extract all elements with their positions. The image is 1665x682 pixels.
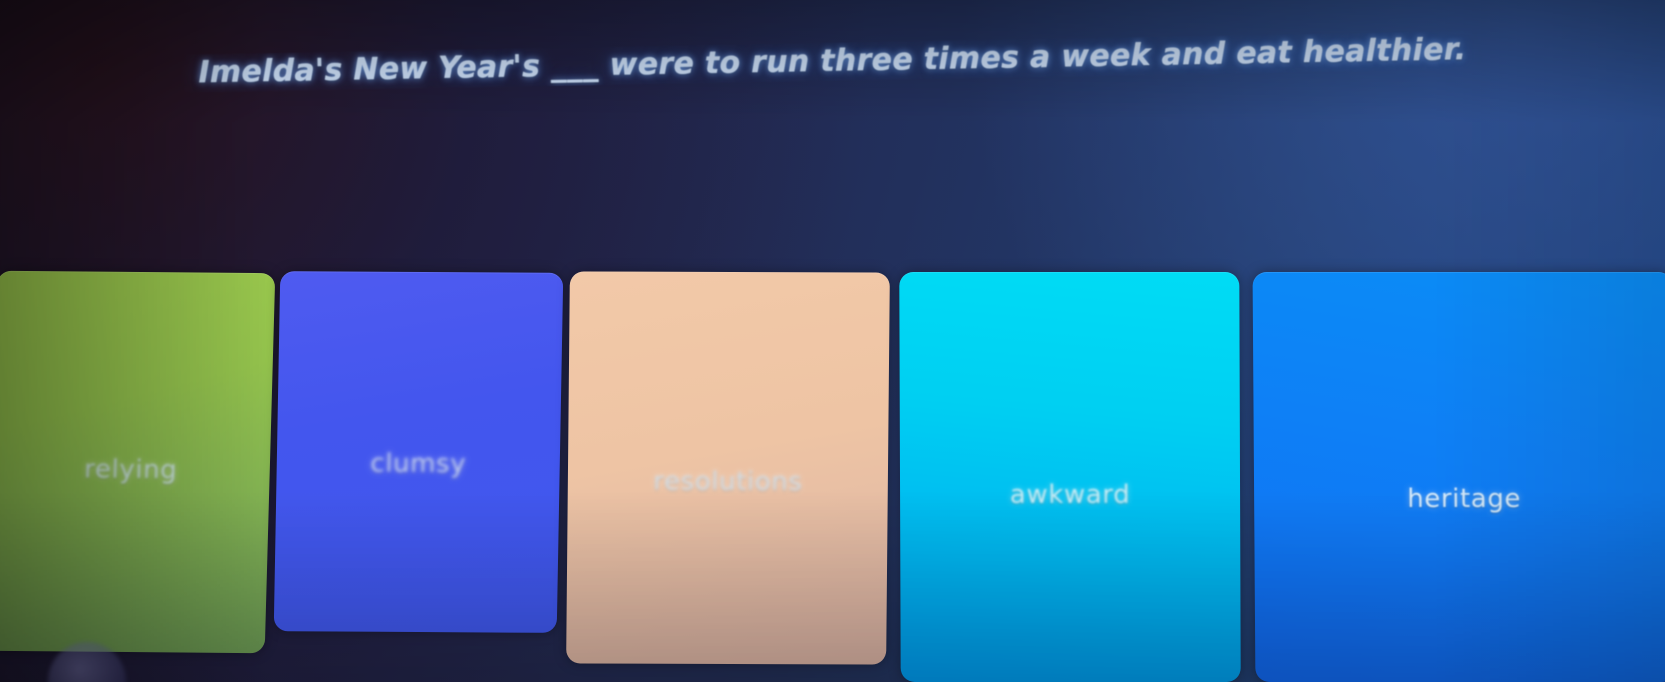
question-blank: ___ bbox=[551, 47, 600, 85]
answer-option-relying[interactable]: relying bbox=[0, 271, 275, 653]
answer-option-awkward[interactable]: awkward bbox=[899, 272, 1240, 682]
question-suffix: were to run three times a week and eat h… bbox=[599, 32, 1467, 83]
answer-option-label: resolutions bbox=[653, 467, 803, 498]
answer-option-label: clumsy bbox=[370, 449, 466, 480]
answer-option-clumsy[interactable]: clumsy bbox=[274, 271, 564, 633]
answer-options-row: relying clumsy resolutions awkward herit… bbox=[0, 272, 1665, 682]
question-prefix: Imelda's New Year's bbox=[198, 49, 551, 90]
answer-option-label: heritage bbox=[1407, 484, 1521, 514]
question-text: Imelda's New Year's ___ were to run thre… bbox=[0, 27, 1665, 95]
answer-option-resolutions[interactable]: resolutions bbox=[566, 271, 890, 664]
answer-option-label: awkward bbox=[1010, 480, 1130, 510]
answer-option-label: relying bbox=[84, 455, 178, 486]
quiz-screen: Imelda's New Year's ___ were to run thre… bbox=[0, 0, 1665, 682]
answer-option-heritage[interactable]: heritage bbox=[1253, 272, 1665, 682]
